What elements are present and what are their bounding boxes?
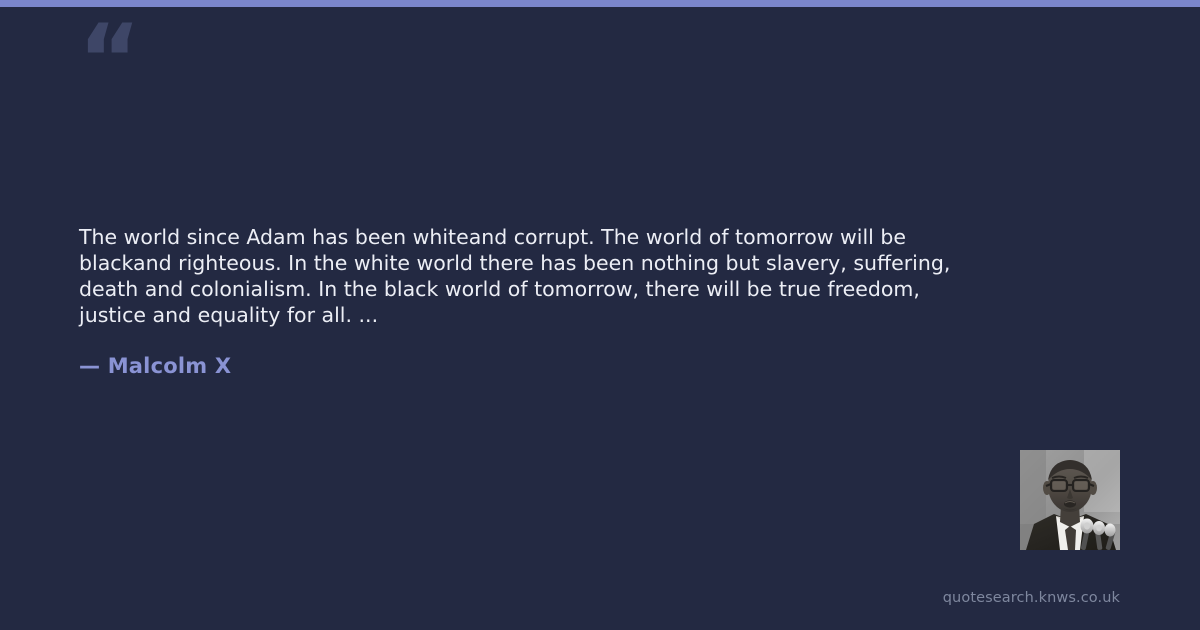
- open-quote-icon: “: [78, 12, 139, 108]
- source-url-label: quotesearch.knws.co.uk: [943, 590, 1120, 606]
- quote-text: The world since Adam has been whiteand c…: [79, 224, 979, 328]
- author-portrait-image: [1020, 450, 1120, 550]
- top-accent-bar: [0, 0, 1200, 7]
- quote-card: “ The world since Adam has been whiteand…: [0, 0, 1200, 630]
- quote-attribution: — Malcolm X: [79, 354, 231, 378]
